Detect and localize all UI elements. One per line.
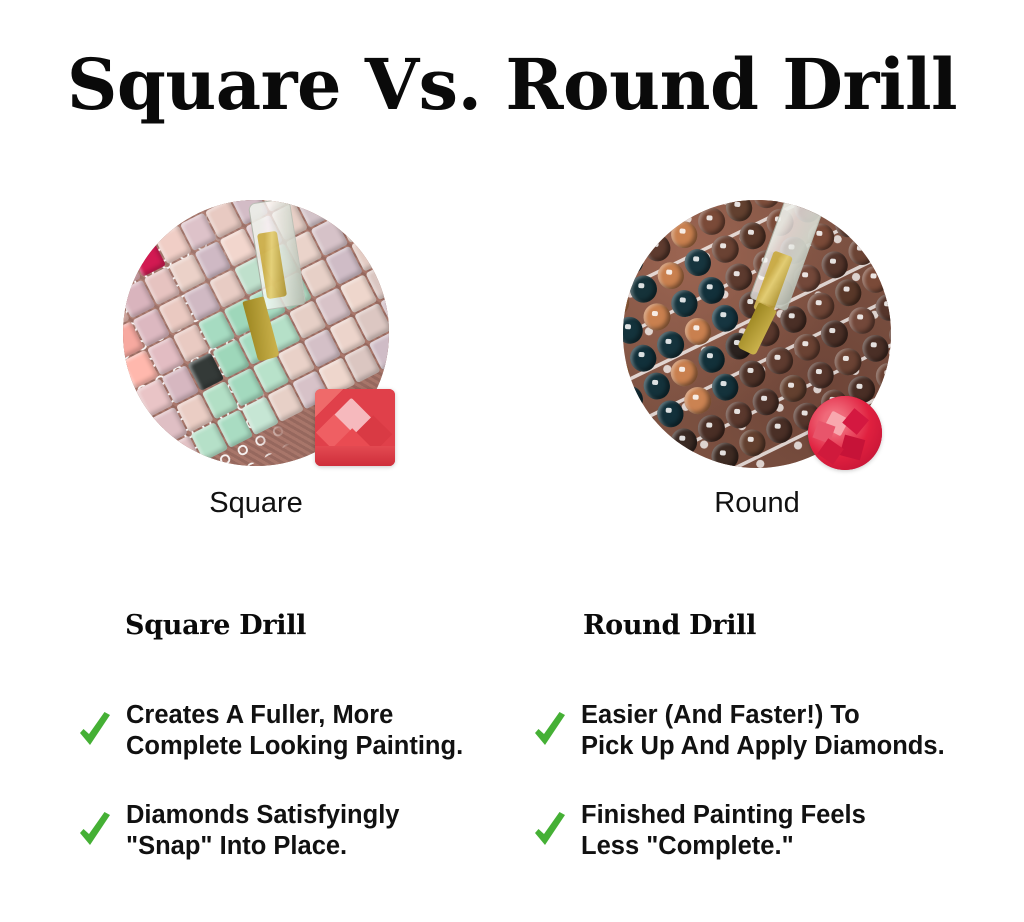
list-item-text: Diamonds Satisfyingly "Snap" Into Place. [126, 800, 399, 862]
page-title: Square Vs. Round Drill [0, 48, 1024, 122]
applicator-pen [741, 200, 827, 402]
list-item-text: Finished Painting Feels Less "Complete." [581, 800, 866, 862]
heading-round-drill: Round Drill [583, 610, 756, 641]
caption-round: Round [623, 487, 891, 520]
list-item: Creates A Fuller, More Complete Looking … [78, 700, 498, 762]
check-icon [533, 811, 567, 851]
list-item-text: Creates A Fuller, More Complete Looking … [126, 700, 463, 762]
check-icon [533, 711, 567, 751]
caption-square: Square [123, 487, 389, 520]
heading-square-drill: Square Drill [125, 610, 306, 641]
list-item-text: Easier (And Faster!) To Pick Up And Appl… [581, 700, 945, 762]
check-icon [78, 811, 112, 851]
list-item: Finished Painting Feels Less "Complete." [533, 800, 983, 862]
round-drill-gem [808, 396, 882, 470]
list-item: Diamonds Satisfyingly "Snap" Into Place. [78, 800, 498, 862]
infographic-page: Square Vs. Round Drill [0, 0, 1024, 922]
applicator-pen [238, 200, 310, 404]
square-drill-gem [315, 389, 395, 466]
list-item: Easier (And Faster!) To Pick Up And Appl… [533, 700, 983, 762]
check-icon [78, 711, 112, 751]
